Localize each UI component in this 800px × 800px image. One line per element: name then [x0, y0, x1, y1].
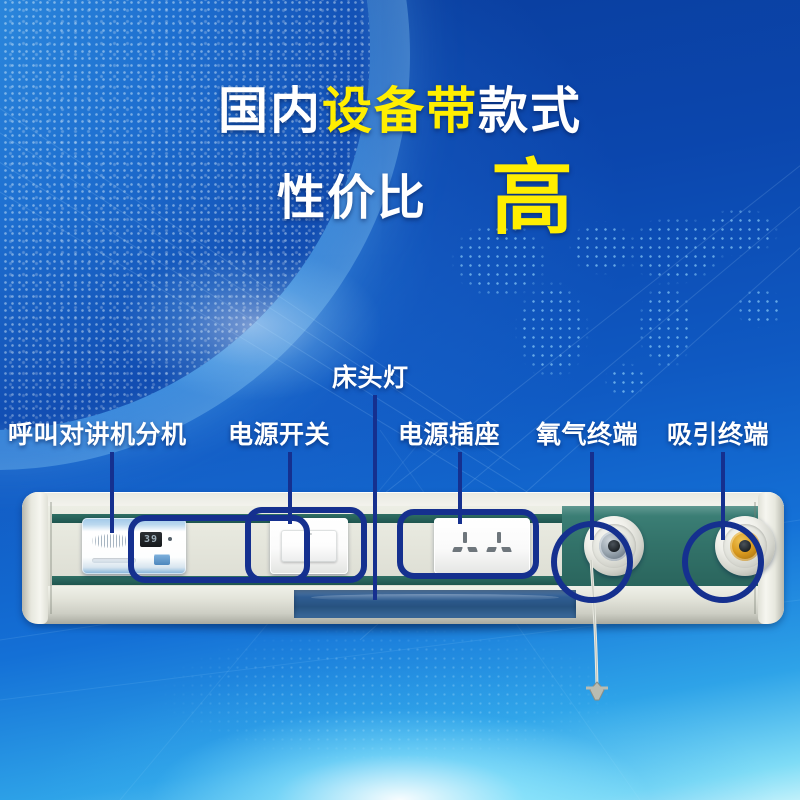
promo-banner: 国内设备带款式 性价比 高 呼叫对讲机分机 电源开关 床头灯 电源插座 氧气终端… [0, 0, 800, 800]
callout-labels: 呼叫对讲机分机 电源开关 床头灯 电源插座 氧气终端 吸引终端 [0, 0, 800, 800]
callout-label-oxygen-terminal: 氧气终端 [536, 415, 638, 451]
callout-label-bed-lamp: 床头灯 [332, 358, 409, 394]
callout-label-power-socket: 电源插座 [398, 415, 500, 451]
callout-label-suction-terminal: 吸引终端 [667, 415, 769, 451]
callout-label-nurse-call-intercom: 呼叫对讲机分机 [8, 415, 187, 451]
callout-label-power-switch: 电源开关 [228, 415, 330, 451]
